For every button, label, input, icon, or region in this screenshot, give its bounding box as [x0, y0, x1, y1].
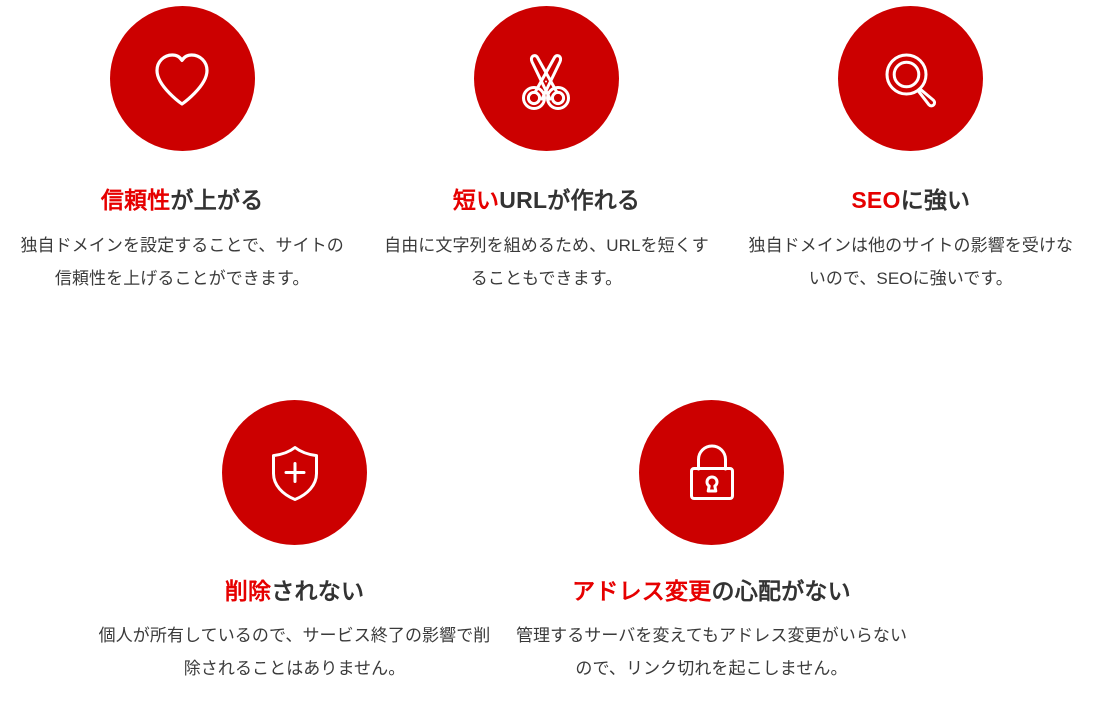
feature-title-highlight: SEO — [851, 187, 900, 213]
feature-card-no-deletion: 削除されない 個人が所有しているので、サービス終了の影響で削除されることはありま… — [86, 394, 503, 685]
feature-title: 削除されない — [225, 577, 364, 606]
shield-plus-icon — [222, 400, 367, 545]
scissors-icon — [474, 6, 619, 151]
feature-title-highlight: 信頼性 — [101, 187, 171, 213]
feature-card-no-address-change: アドレス変更の心配がない 管理するサーバを変えてもアドレス変更がいらないので、リ… — [503, 394, 920, 685]
feature-title-highlight: 短い — [453, 187, 499, 213]
feature-description: 管理するサーバを変えてもアドレス変更がいらないので、リンク切れを起こしません。 — [513, 619, 910, 685]
feature-row-top: 信頼性が上がる 独自ドメインを設定することで、サイトの信頼性を上げることができま… — [0, 0, 1093, 295]
features-section: 信頼性が上がる 独自ドメインを設定することで、サイトの信頼性を上げることができま… — [0, 0, 1093, 703]
magnifier-icon — [838, 6, 983, 151]
feature-title-rest: されない — [271, 578, 364, 604]
heart-icon — [110, 6, 255, 151]
feature-row-bottom: 削除されない 個人が所有しているので、サービス終了の影響で削除されることはありま… — [0, 394, 920, 685]
feature-description: 独自ドメインを設定することで、サイトの信頼性を上げることができます。 — [17, 229, 347, 295]
feature-title-highlight: 削除 — [225, 578, 271, 604]
feature-card-short-url: 短いURLが作れる 自由に文字列を組めるため、URLを短くすることもできます。 — [364, 0, 728, 295]
feature-title: アドレス変更の心配がない — [572, 577, 851, 606]
feature-title-rest: に強い — [901, 187, 971, 213]
feature-title: 短いURLが作れる — [453, 186, 640, 215]
feature-title-rest: が上がる — [171, 187, 264, 213]
feature-title: SEOに強い — [851, 186, 970, 215]
lock-icon — [639, 400, 784, 545]
feature-description: 独自ドメインは他のサイトの影響を受けないので、SEOに強いです。 — [746, 229, 1076, 295]
feature-card-seo: SEOに強い 独自ドメインは他のサイトの影響を受けないので、SEOに強いです。 — [729, 0, 1093, 295]
feature-description: 自由に文字列を組めるため、URLを短くすることもできます。 — [381, 229, 711, 295]
feature-description: 個人が所有しているので、サービス終了の影響で削除されることはありません。 — [96, 619, 493, 685]
feature-title-rest: の心配がない — [712, 578, 851, 604]
feature-card-trust: 信頼性が上がる 独自ドメインを設定することで、サイトの信頼性を上げることができま… — [0, 0, 364, 295]
feature-title: 信頼性が上がる — [101, 186, 264, 215]
feature-title-highlight: アドレス変更 — [572, 578, 711, 604]
feature-title-rest: URLが作れる — [499, 187, 640, 213]
